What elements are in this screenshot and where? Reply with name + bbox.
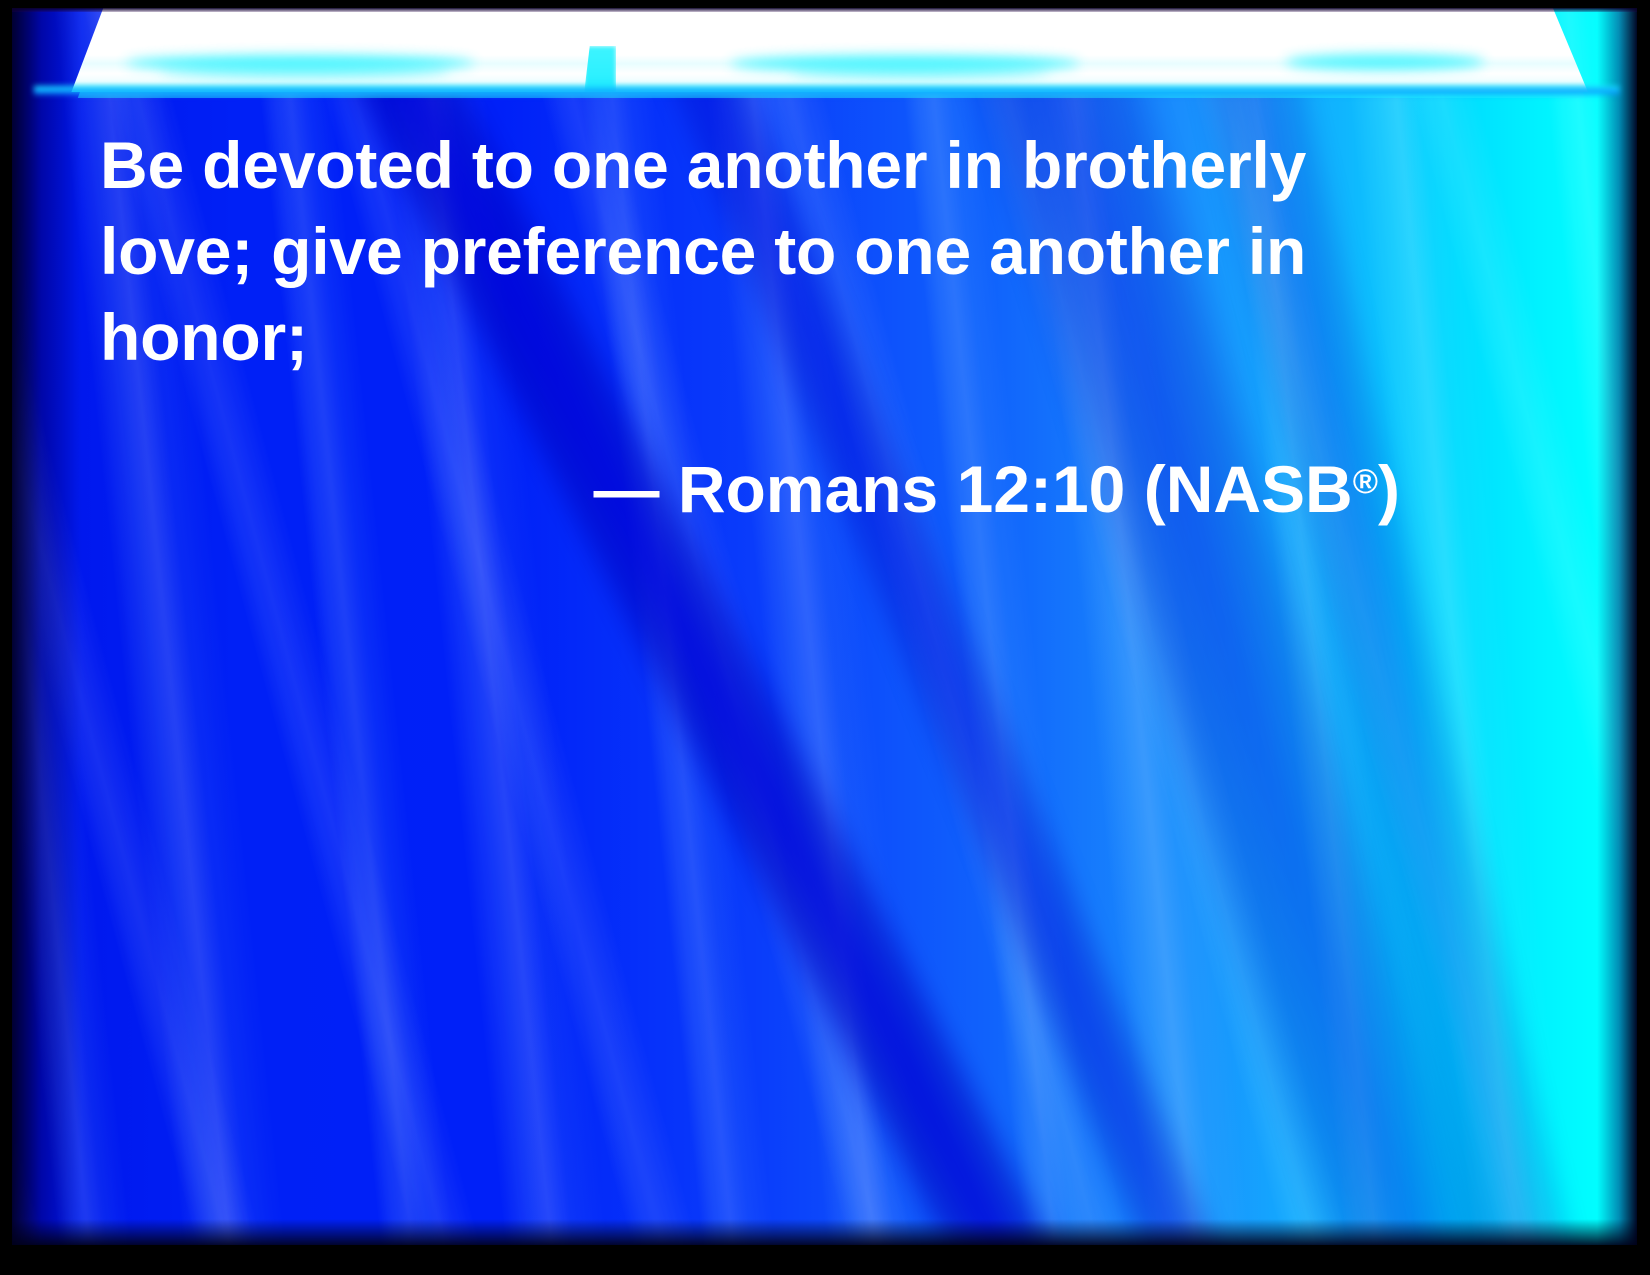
verse-line-3: honor; [100, 294, 1400, 380]
registered-trademark-icon: ® [1353, 463, 1378, 501]
top-band-white [30, 8, 1623, 92]
top-glow-band [12, 8, 1637, 96]
attribution-translation-close: ) [1378, 452, 1400, 526]
slide-stage: Be devoted to one another in brotherly l… [12, 8, 1637, 1245]
top-band-underglow [34, 86, 1619, 96]
top-band-wisp [160, 64, 450, 78]
attribution-em-dash: — [593, 452, 659, 526]
verse-attribution: — Romans 12:10 (NASB®) [100, 380, 1400, 525]
left-edge-shadow [12, 8, 82, 1245]
attribution-book: Romans [678, 452, 938, 526]
verse-line-1: Be devoted to one another in brotherly [100, 122, 1400, 208]
verse-text-block: Be devoted to one another in brotherly l… [100, 122, 1400, 525]
top-band-wisp [1285, 54, 1485, 70]
verse-line-2: love; give preference to one another in [100, 208, 1400, 294]
attribution-reference: 12:10 [957, 452, 1126, 526]
right-edge-shadow [1597, 8, 1637, 1245]
attribution-translation-open: (NASB [1144, 452, 1353, 526]
top-band-dark-rim [12, 8, 1637, 12]
bottom-edge-shadow [12, 1219, 1637, 1245]
verse-slide: Be devoted to one another in brotherly l… [0, 0, 1650, 1275]
top-band-wisp [790, 66, 1050, 78]
